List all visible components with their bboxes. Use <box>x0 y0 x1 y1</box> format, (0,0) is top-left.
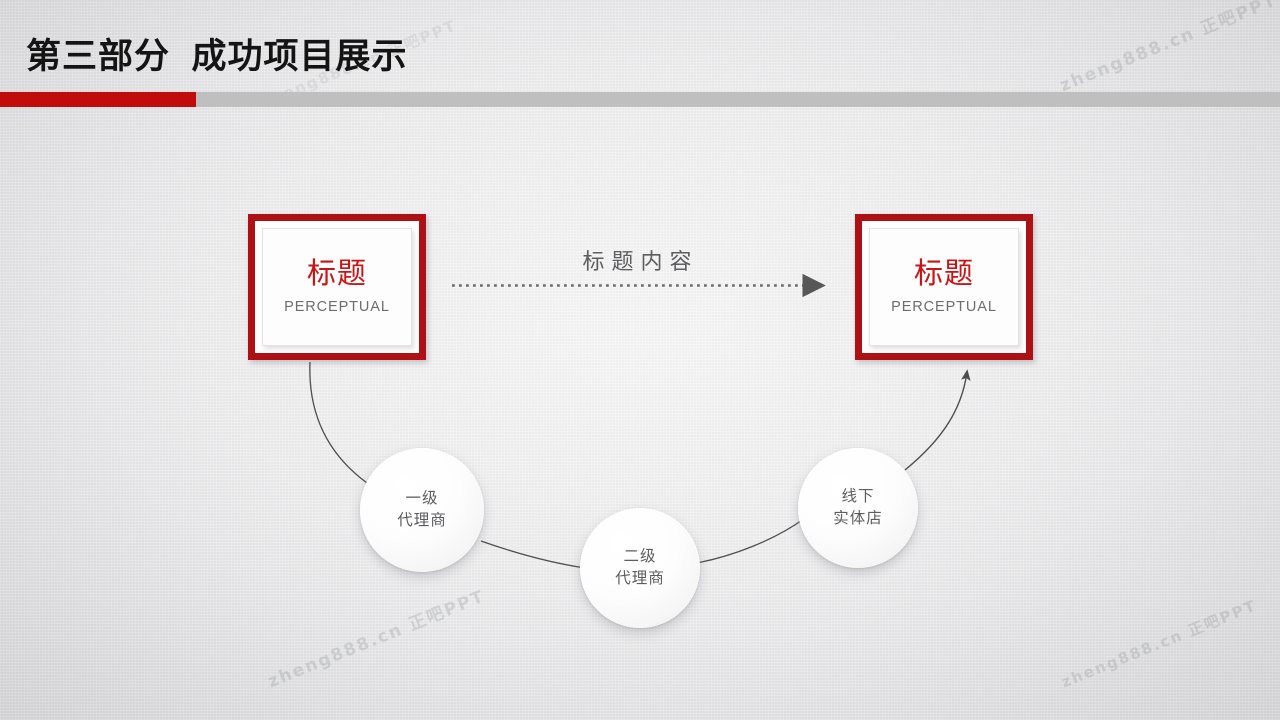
wire-leftbox-to-node1 <box>310 362 367 483</box>
node-second-agent-line1: 二级 <box>623 546 656 568</box>
watermark: zheng888.cn 正吧PPT <box>1058 594 1260 692</box>
left-title-box-inner: 标题 PERCEPTUAL <box>262 228 412 346</box>
arrow-label: 标题内容 <box>452 244 822 276</box>
wire-node2-to-node3 <box>697 518 805 563</box>
node-offline-store[interactable]: 线下 实体店 <box>798 448 918 568</box>
node-second-agent-line2: 代理商 <box>615 568 665 590</box>
node-second-agent[interactable]: 二级 代理商 <box>580 508 700 628</box>
header-rule-grey-segment <box>196 92 1280 107</box>
right-title-box[interactable]: 标题 PERCEPTUAL <box>855 214 1033 360</box>
wire-node1-to-node2 <box>481 541 585 568</box>
wire-node3-to-rightbox <box>905 372 967 470</box>
left-title-box[interactable]: 标题 PERCEPTUAL <box>248 214 426 360</box>
watermark: zheng888.cn 正吧PPT <box>1055 0 1280 96</box>
node-first-agent-line2: 代理商 <box>397 510 447 532</box>
header-rule-red-segment <box>0 92 196 107</box>
right-title-box-subheading: PERCEPTUAL <box>891 299 997 315</box>
left-title-box-heading: 标题 <box>307 259 367 289</box>
node-offline-store-line2: 实体店 <box>833 508 883 530</box>
left-title-box-subheading: PERCEPTUAL <box>284 299 390 315</box>
slide-canvas: zheng888.cn 正吧PPT zheng888.cn 正吧PPT zhen… <box>0 0 1280 720</box>
watermark: zheng888.cn 正吧PPT <box>263 582 488 692</box>
node-first-agent[interactable]: 一级 代理商 <box>360 448 484 572</box>
node-offline-store-line1: 线下 <box>841 486 874 508</box>
right-title-box-inner: 标题 PERCEPTUAL <box>869 228 1019 346</box>
right-title-box-heading: 标题 <box>914 259 974 289</box>
page-title: 第三部分 成功项目展示 <box>26 28 407 79</box>
header-rule <box>0 92 1280 107</box>
node-first-agent-line1: 一级 <box>405 488 438 510</box>
